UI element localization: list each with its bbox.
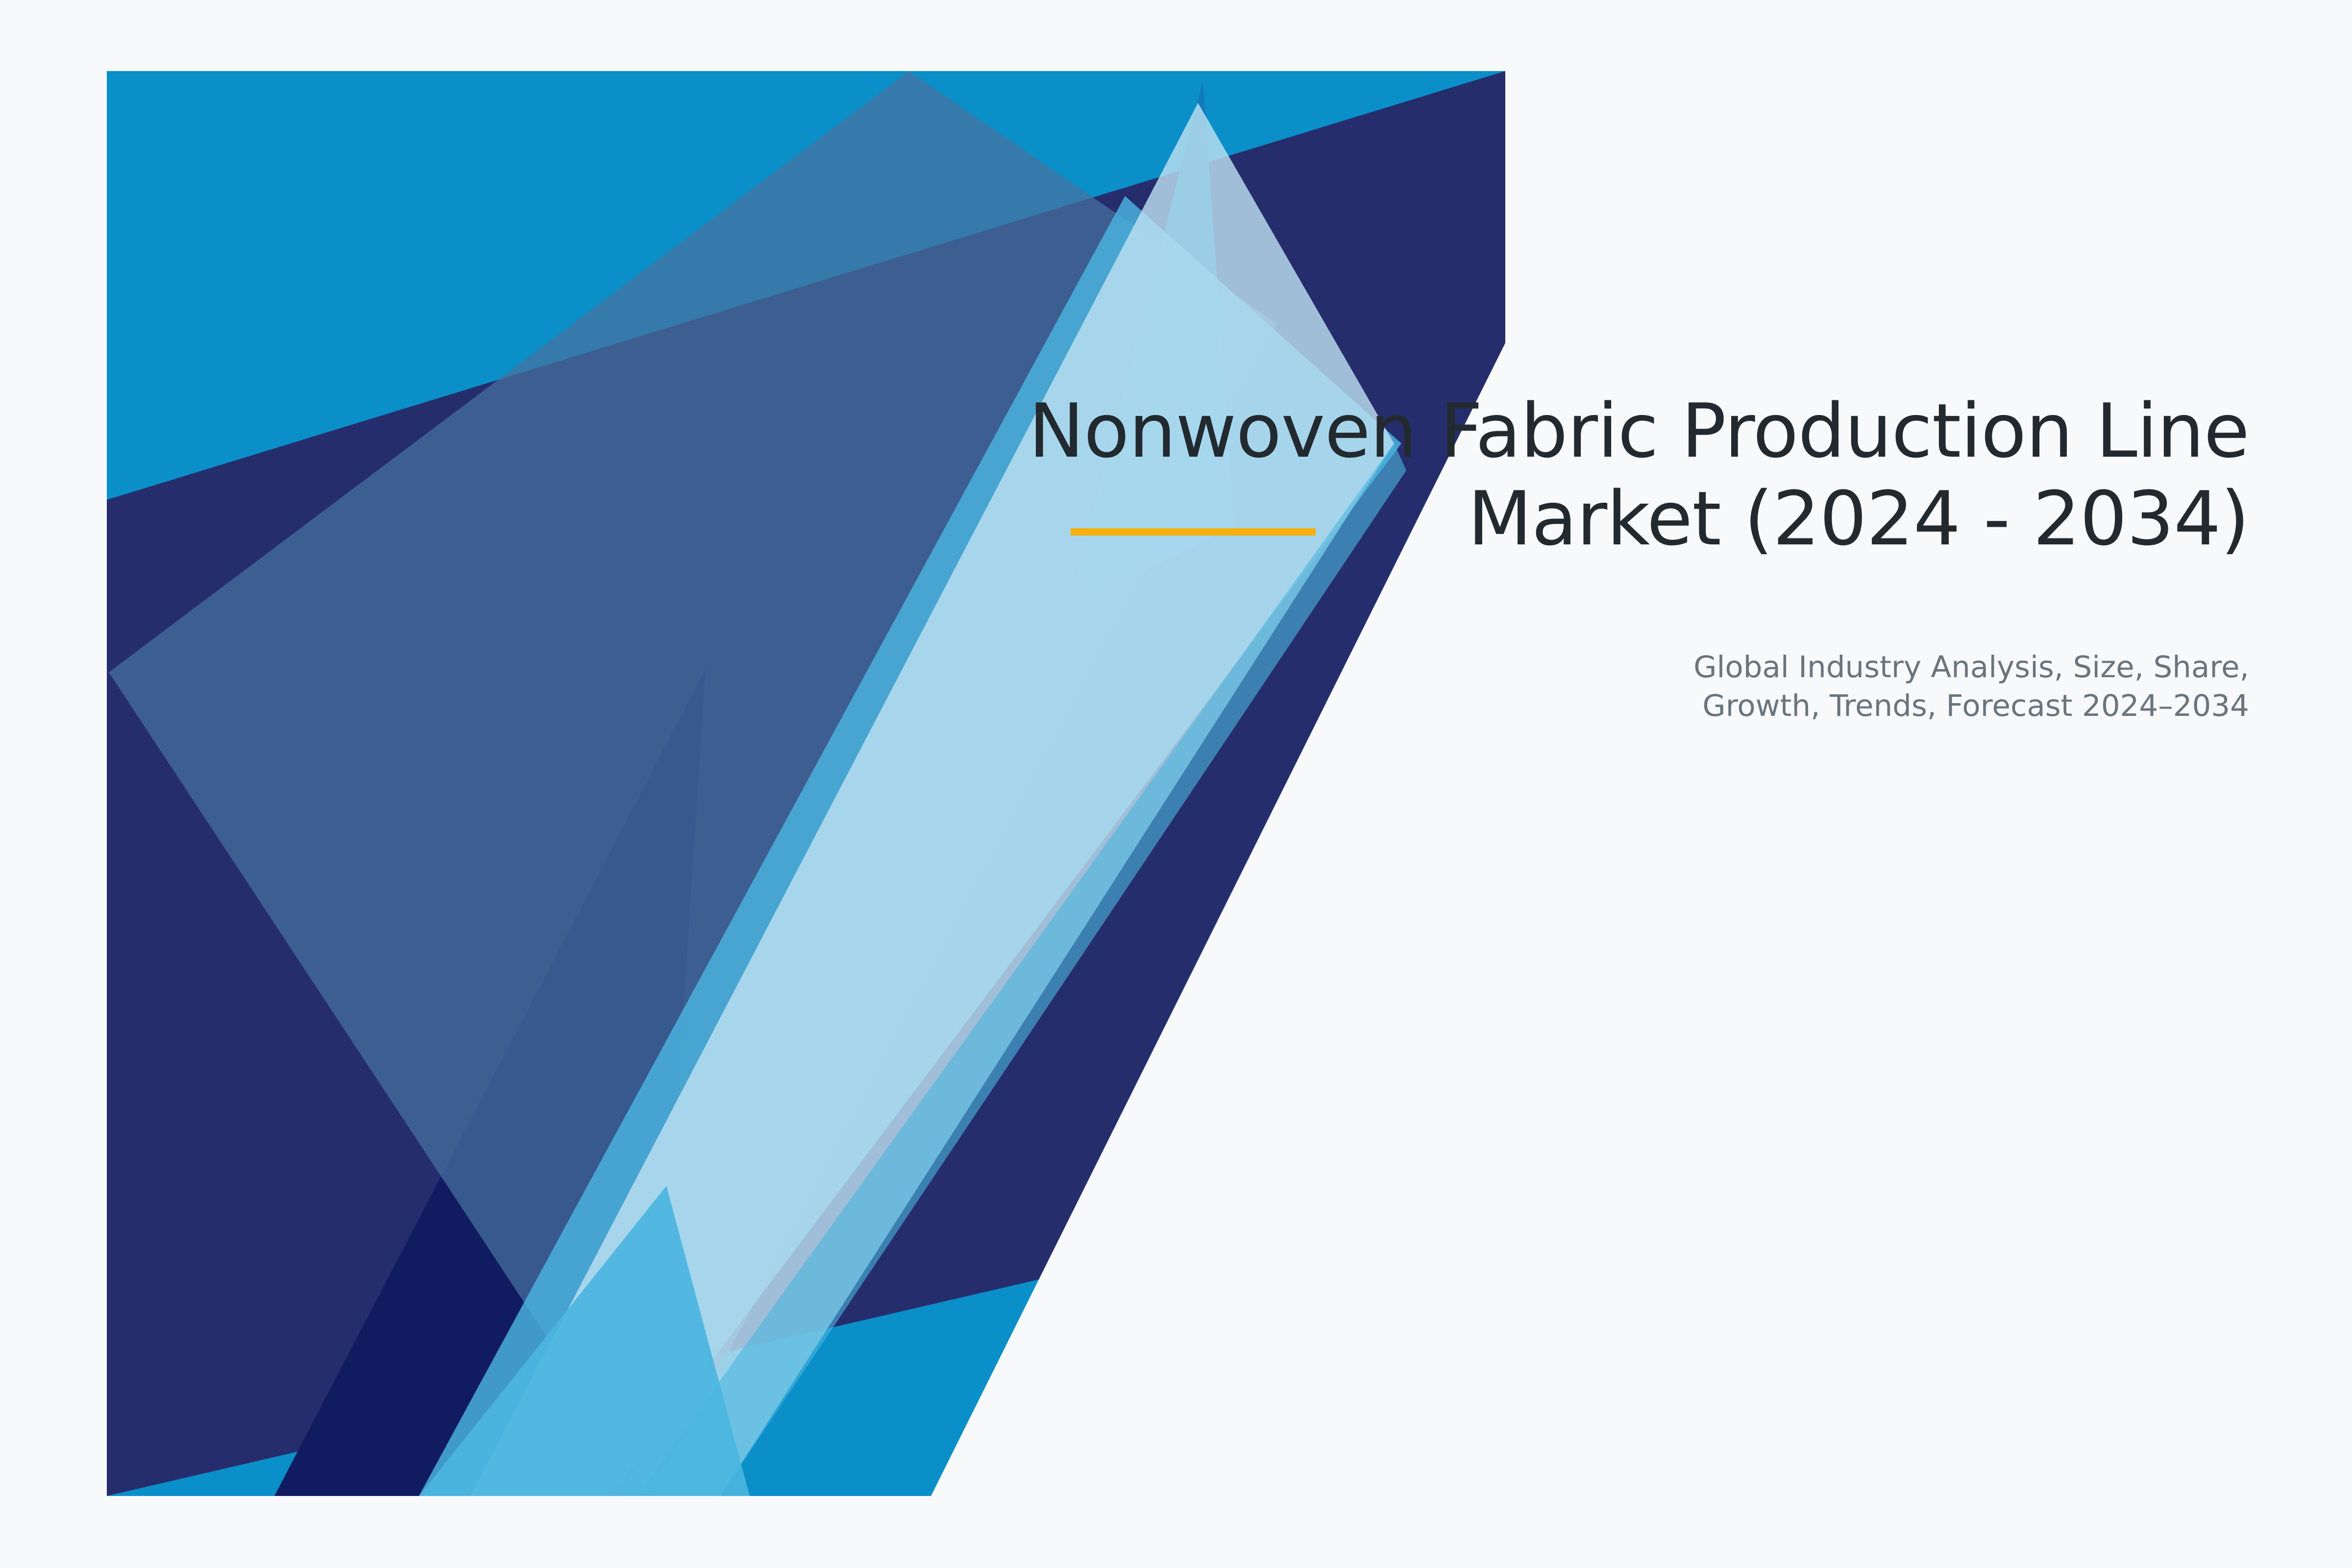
report-cover-page: Nonwoven Fabric Production Line Market (… — [0, 0, 2352, 1568]
headline-block: Nonwoven Fabric Production Line Market (… — [931, 387, 2249, 563]
abstract-angular-blue-collage — [0, 0, 2352, 1568]
page-title: Nonwoven Fabric Production Line Market (… — [931, 387, 2249, 563]
page-subtitle: Global Industry Analysis, Size, Share, G… — [1274, 648, 2249, 726]
accent-rule — [1071, 528, 1316, 536]
subtitle-block: Global Industry Analysis, Size, Share, G… — [1274, 648, 2249, 726]
